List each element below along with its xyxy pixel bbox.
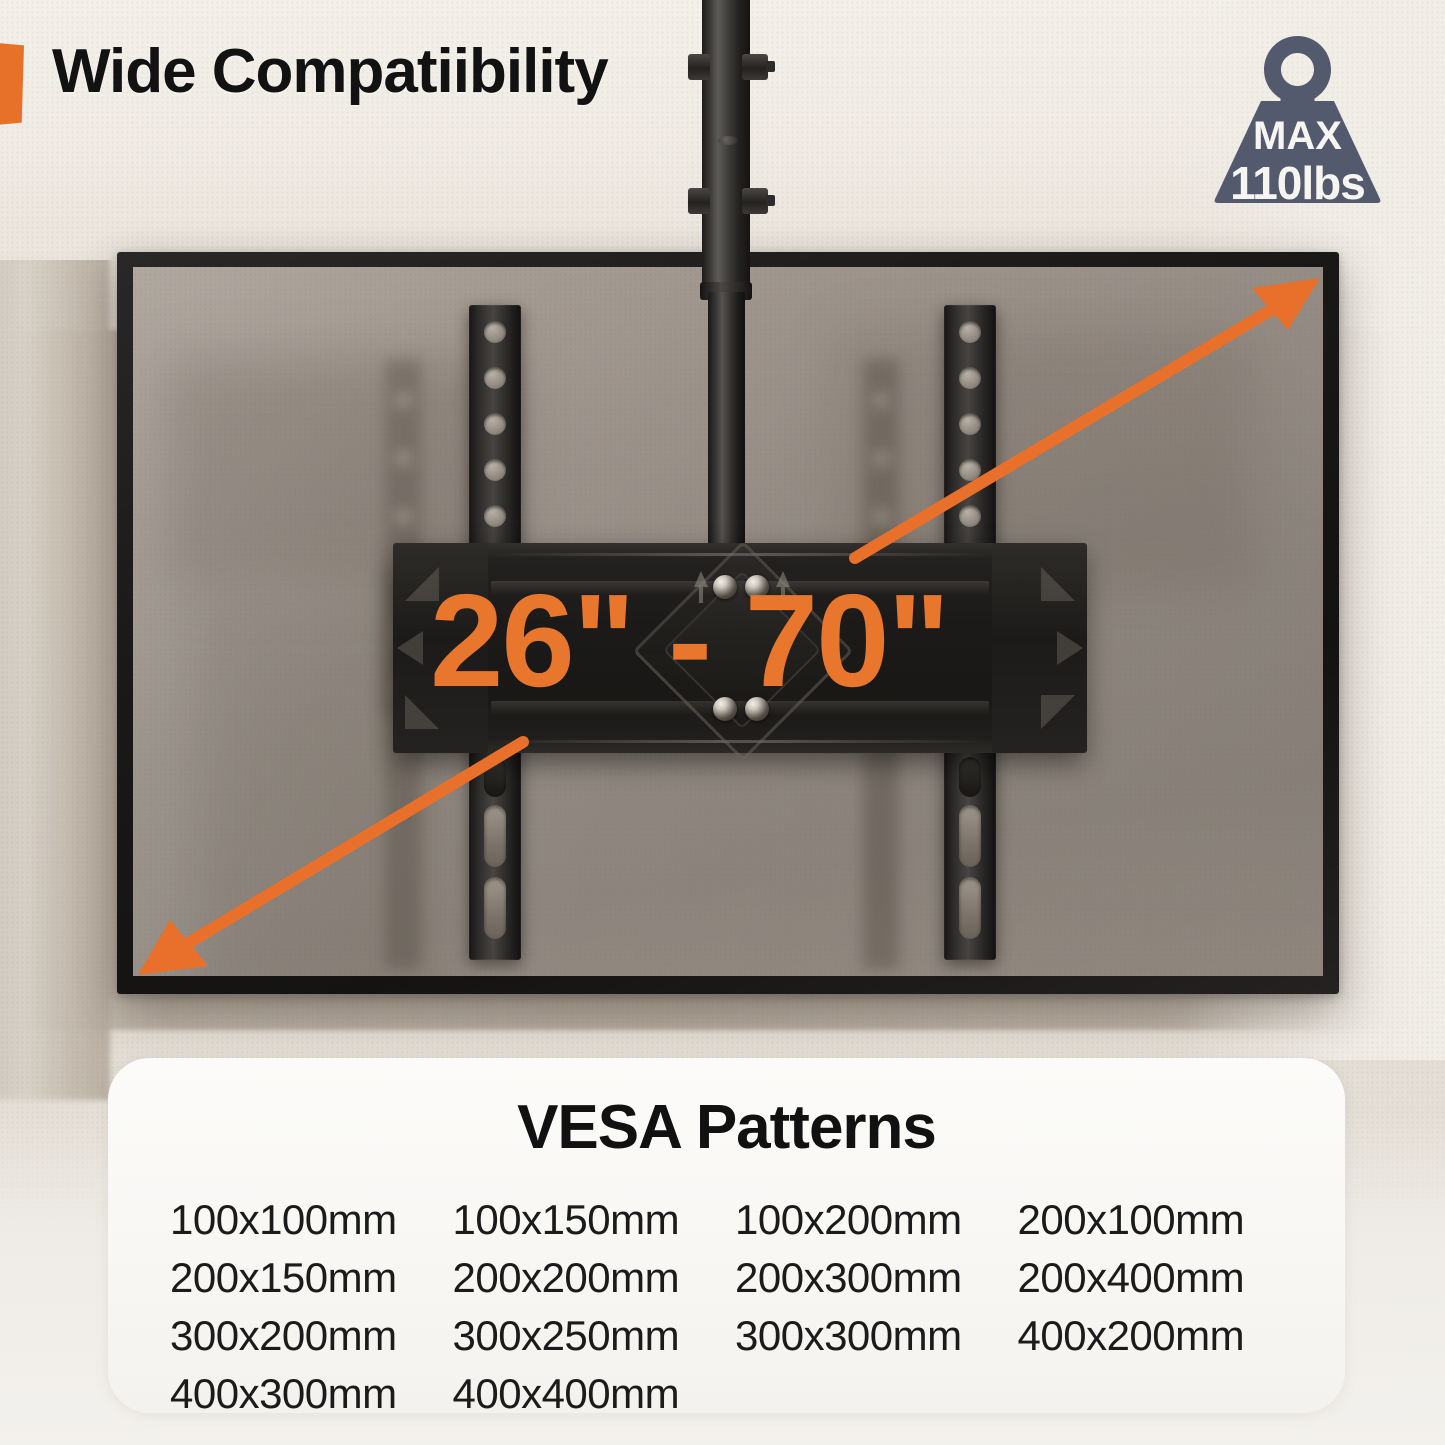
vesa-pattern-item: 200x150mm [170, 1254, 453, 1302]
vesa-pattern-item: 400x400mm [453, 1370, 736, 1418]
vesa-pattern-item: 400x200mm [1018, 1312, 1301, 1360]
vesa-card-title: VESA Patterns [108, 1092, 1345, 1163]
pole-bolt-left [688, 54, 710, 80]
vesa-pattern-item: 200x100mm [1018, 1196, 1301, 1244]
vesa-pattern-item: 100x200mm [735, 1196, 1018, 1244]
vesa-pattern-item: 100x150mm [453, 1196, 736, 1244]
max-weight-badge: MAX 110lbs [1205, 28, 1390, 208]
orange-accent-mark [0, 42, 24, 126]
pole-bolt-left [688, 188, 710, 214]
vesa-pattern-item: 100x100mm [170, 1196, 453, 1244]
vesa-patterns-card: VESA Patterns 100x100mm100x150mm100x200m… [108, 1058, 1345, 1413]
vesa-pattern-item: 200x300mm [735, 1254, 1018, 1302]
vesa-pattern-item: 200x200mm [453, 1254, 736, 1302]
pole-screw [718, 136, 738, 145]
weight-icon [1205, 28, 1390, 208]
pole-upper-tube [702, 0, 750, 296]
size-range-label: 26" - 70" [430, 575, 1070, 707]
infographic-root: Wide Compatiibility MAX 110lbs [0, 0, 1445, 1445]
ceiling-mount-pole [690, 0, 762, 556]
vesa-patterns-grid: 100x100mm100x150mm100x200mm200x100mm200x… [170, 1196, 1300, 1418]
vesa-pattern-item: 300x200mm [170, 1312, 453, 1360]
pole-lower-tube [708, 292, 745, 562]
vesa-pattern-item: 300x300mm [735, 1312, 1018, 1360]
pole-bolt-right [742, 188, 768, 214]
vesa-pattern-item: 200x400mm [1018, 1254, 1301, 1302]
pole-bolt-right [742, 54, 768, 80]
page-title: Wide Compatiibility [52, 36, 608, 107]
vesa-pattern-item: 400x300mm [170, 1370, 453, 1418]
vesa-pattern-item: 300x250mm [453, 1312, 736, 1360]
